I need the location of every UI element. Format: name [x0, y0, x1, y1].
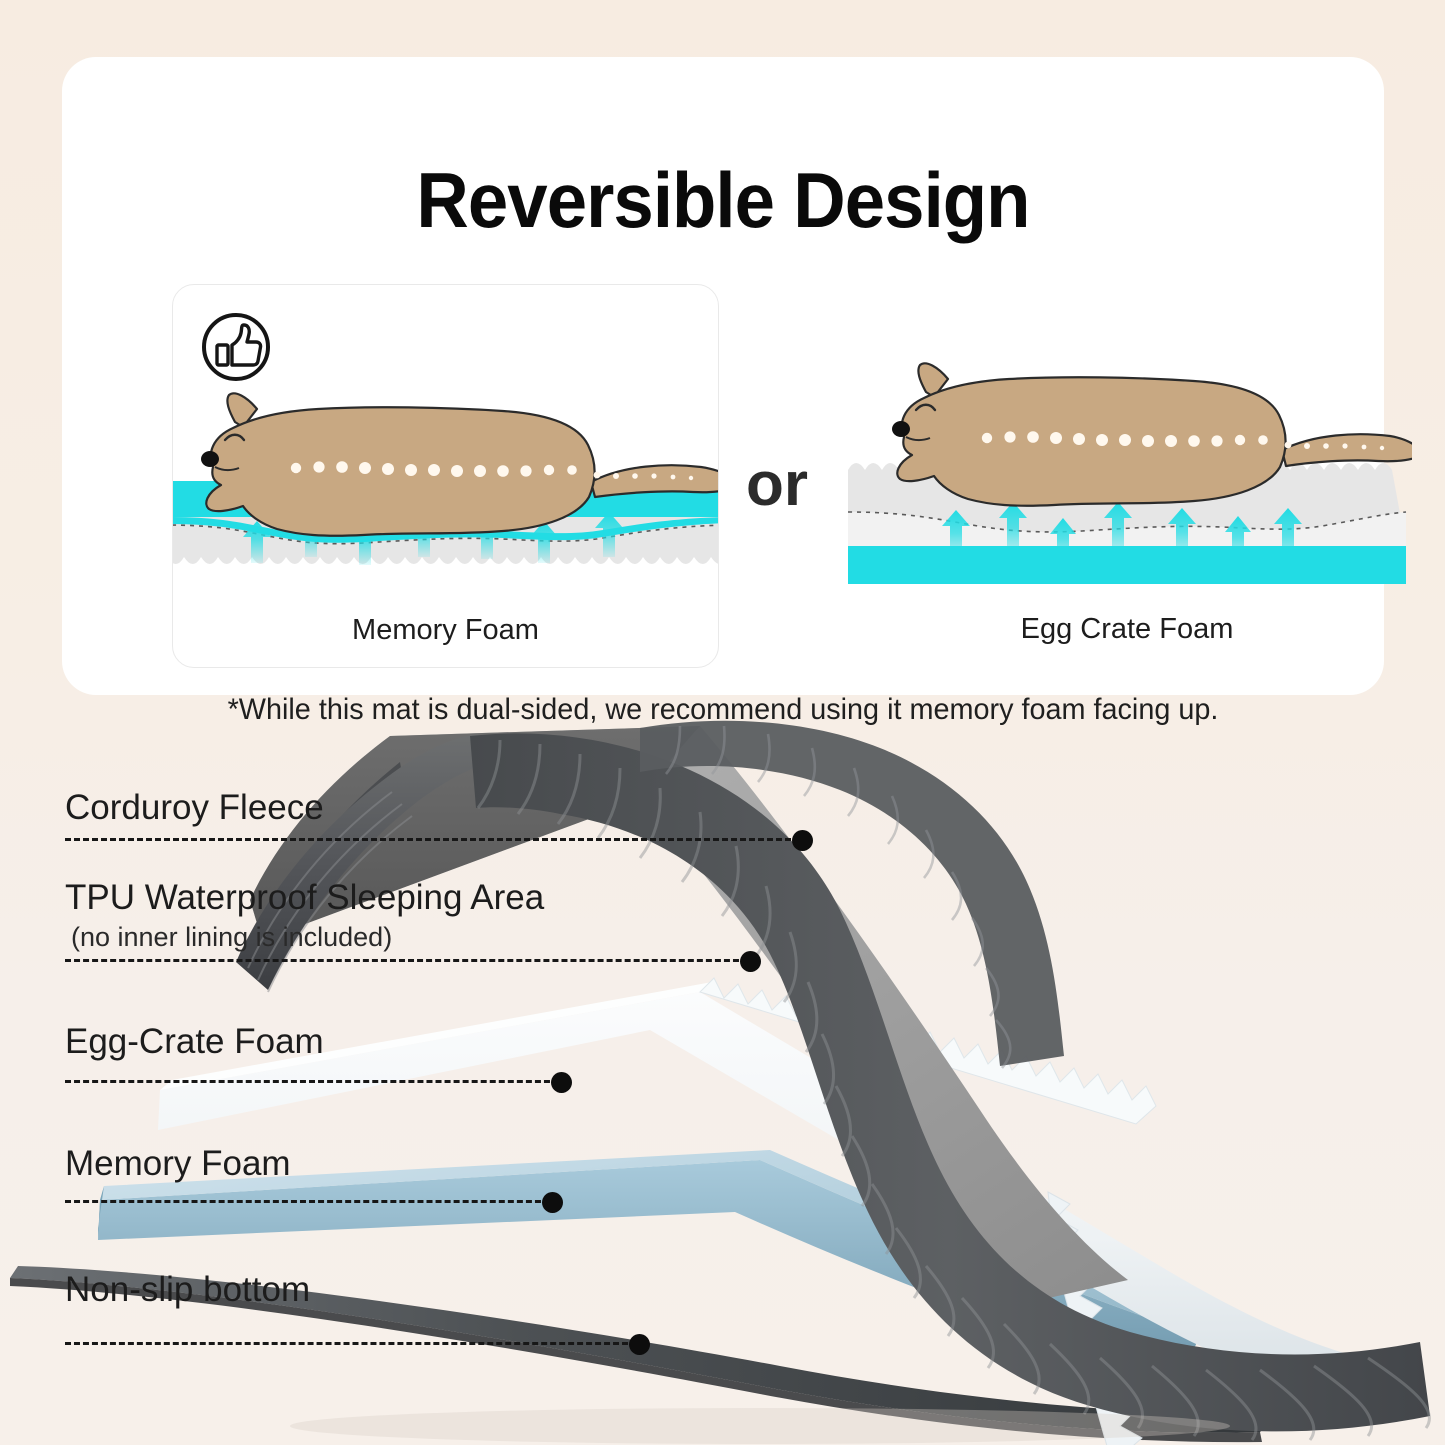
comparison-panel-memory-foam: Memory Foam [172, 284, 719, 668]
page-title: Reversible Design [108, 155, 1337, 246]
layer-breakdown-section: Corduroy Fleece TPU Waterproof Sleeping … [0, 700, 1445, 1445]
egg-crate-foam-illustration [842, 284, 1412, 599]
leader-line-non-slip-bottom [65, 1342, 637, 1345]
leader-line-corduroy-fleece [65, 838, 800, 841]
thumbs-up-icon [200, 311, 272, 383]
leader-line-tpu-waterproof [65, 959, 748, 962]
callout-sublabel-tpu-waterproof: (no inner lining is included) [71, 922, 392, 953]
leader-line-egg-crate-foam [65, 1080, 559, 1083]
leader-dot-non-slip-bottom [629, 1334, 650, 1355]
leader-dot-egg-crate-foam [551, 1072, 572, 1093]
panel-caption-memory-foam: Memory Foam [173, 614, 718, 647]
leader-dot-corduroy-fleece [792, 830, 813, 851]
reversible-design-card: Reversible Design [62, 57, 1384, 695]
leader-dot-tpu-waterproof [740, 951, 761, 972]
comparison-panel-egg-crate-foam: Egg Crate Foam [842, 284, 1412, 666]
or-divider-label: or [722, 449, 832, 520]
leader-dot-memory-foam [542, 1192, 563, 1213]
infographic-root: Reversible Design [0, 0, 1445, 1445]
leader-line-memory-foam [65, 1200, 550, 1203]
panel-caption-egg-crate-foam: Egg Crate Foam [842, 613, 1412, 646]
